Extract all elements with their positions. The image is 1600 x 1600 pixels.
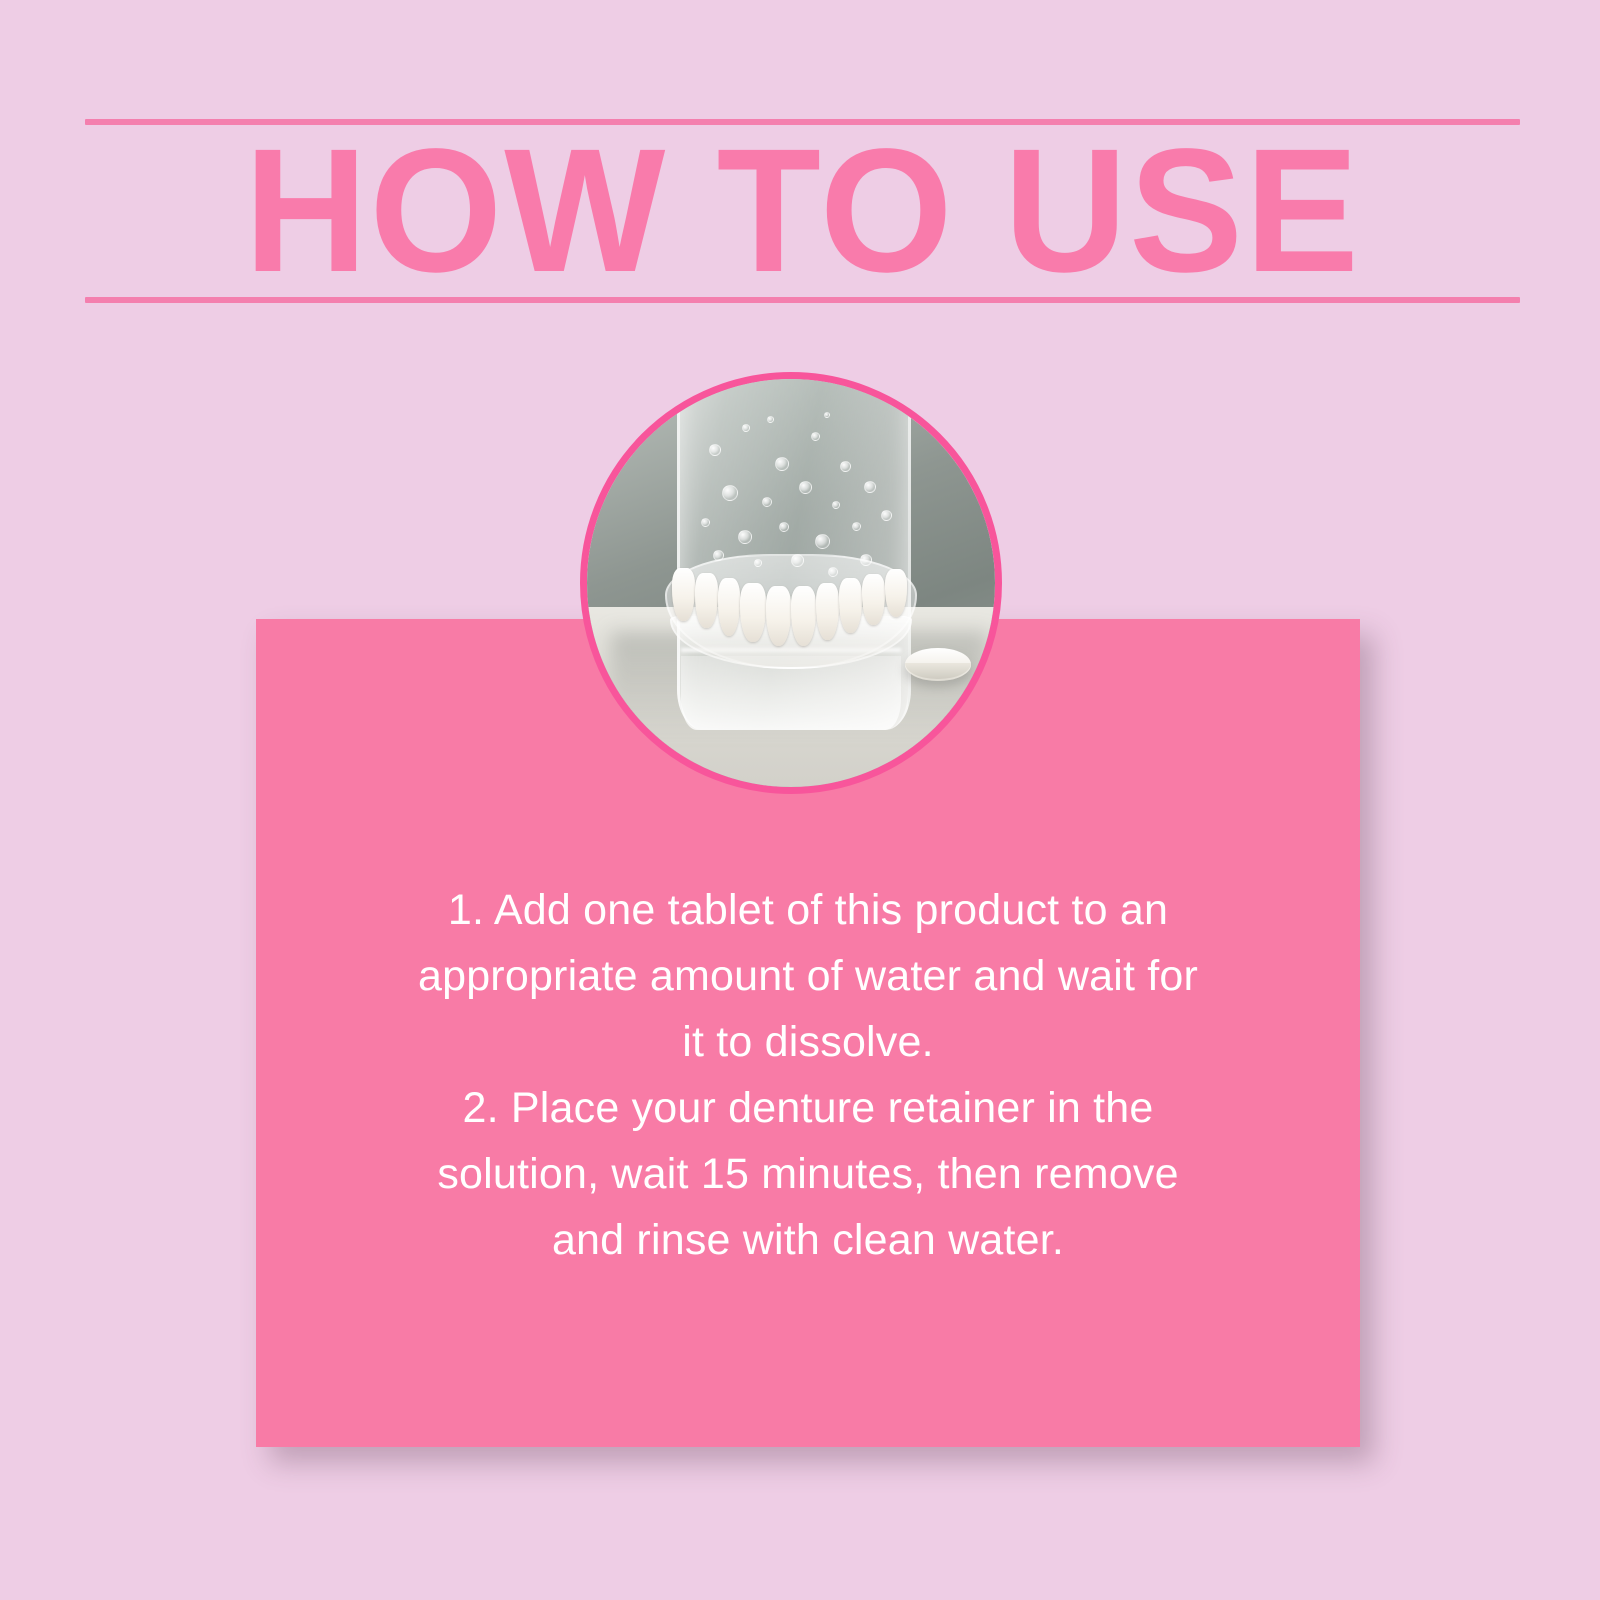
bubble-icon xyxy=(840,461,851,472)
denture-retainer-icon xyxy=(665,554,918,668)
bubble-icon xyxy=(824,412,830,418)
title-rule-bottom-divider xyxy=(85,297,1520,303)
bubble-icon xyxy=(852,522,861,531)
bubble-icon xyxy=(775,457,789,471)
page-title: HOW TO USE xyxy=(107,125,1499,297)
bubble-icon xyxy=(881,510,892,521)
denture-tooth xyxy=(695,573,718,628)
bubble-icon xyxy=(779,522,789,532)
bubble-icon xyxy=(701,518,710,527)
product-photo-image xyxy=(587,379,995,787)
bubble-icon xyxy=(738,530,752,544)
how-to-use-poster: HOW TO USE 1. Add one tablet of this pro… xyxy=(0,0,1600,1600)
denture-tooth xyxy=(672,568,695,621)
denture-tooth xyxy=(862,574,885,625)
denture-tooth xyxy=(740,583,765,642)
bubble-icon xyxy=(722,485,738,501)
product-photo-circle xyxy=(580,372,1002,794)
instructions-text: 1. Add one tablet of this product to an … xyxy=(306,877,1310,1273)
bubble-icon xyxy=(742,424,750,432)
title-block: HOW TO USE xyxy=(85,119,1520,303)
bubble-icon xyxy=(767,416,774,423)
